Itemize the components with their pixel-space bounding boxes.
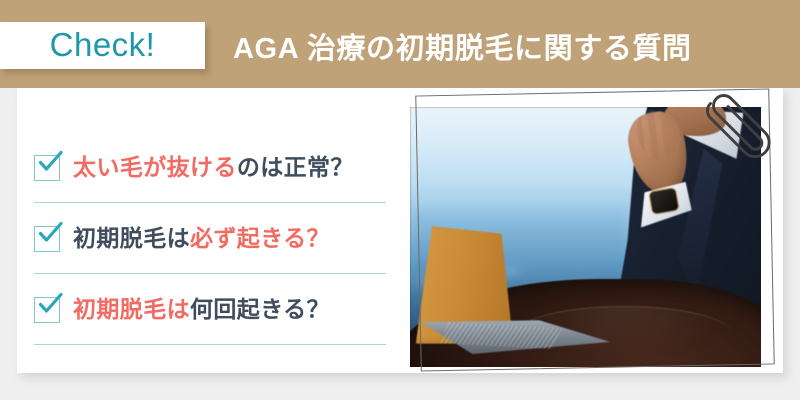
list-item[interactable]: 初期脱毛は必ず起きる？	[34, 203, 386, 274]
list-item[interactable]: 太い毛が抜けるのは正常？	[34, 132, 386, 203]
check-badge-label: Check!	[50, 28, 156, 61]
photo-wristwatch	[648, 187, 680, 216]
list-item[interactable]: 初期脱毛は何回起きる？	[34, 274, 386, 345]
list-item-segment-highlight: 初期脱毛は	[73, 296, 190, 322]
photo-block	[396, 96, 761, 368]
check-badge: Check!	[0, 22, 205, 69]
page-title: AGA 治療の初期脱毛に関する質問	[233, 22, 692, 69]
list-item-segment-plain: 何回起きる？	[190, 296, 330, 322]
aga-faq-banner: Check! AGA 治療の初期脱毛に関する質問 太い毛が抜けるのは正常？ 初期…	[0, 0, 800, 400]
list-item-label: 初期脱毛は必ず起きる？	[73, 227, 330, 250]
list-item-segment-plain: のは正常？	[237, 154, 354, 180]
list-item-label: 初期脱毛は何回起きる？	[73, 298, 330, 321]
list-item-label: 太い毛が抜けるのは正常？	[73, 156, 354, 179]
list-item-segment-highlight: 必ず起きる？	[190, 225, 330, 251]
checkbox-checked-icon[interactable]	[34, 297, 60, 323]
list-item-segment-plain: 初期脱毛は	[73, 225, 190, 251]
checkbox-checked-icon[interactable]	[34, 155, 60, 181]
checkbox-checked-icon[interactable]	[34, 226, 60, 252]
list-item-segment-highlight: 太い毛が抜ける	[73, 154, 237, 180]
faq-checklist: 太い毛が抜けるのは正常？ 初期脱毛は必ず起きる？ 初期脱毛は何回起きる？	[34, 132, 386, 345]
businessman-with-laptop-photo	[410, 107, 761, 367]
